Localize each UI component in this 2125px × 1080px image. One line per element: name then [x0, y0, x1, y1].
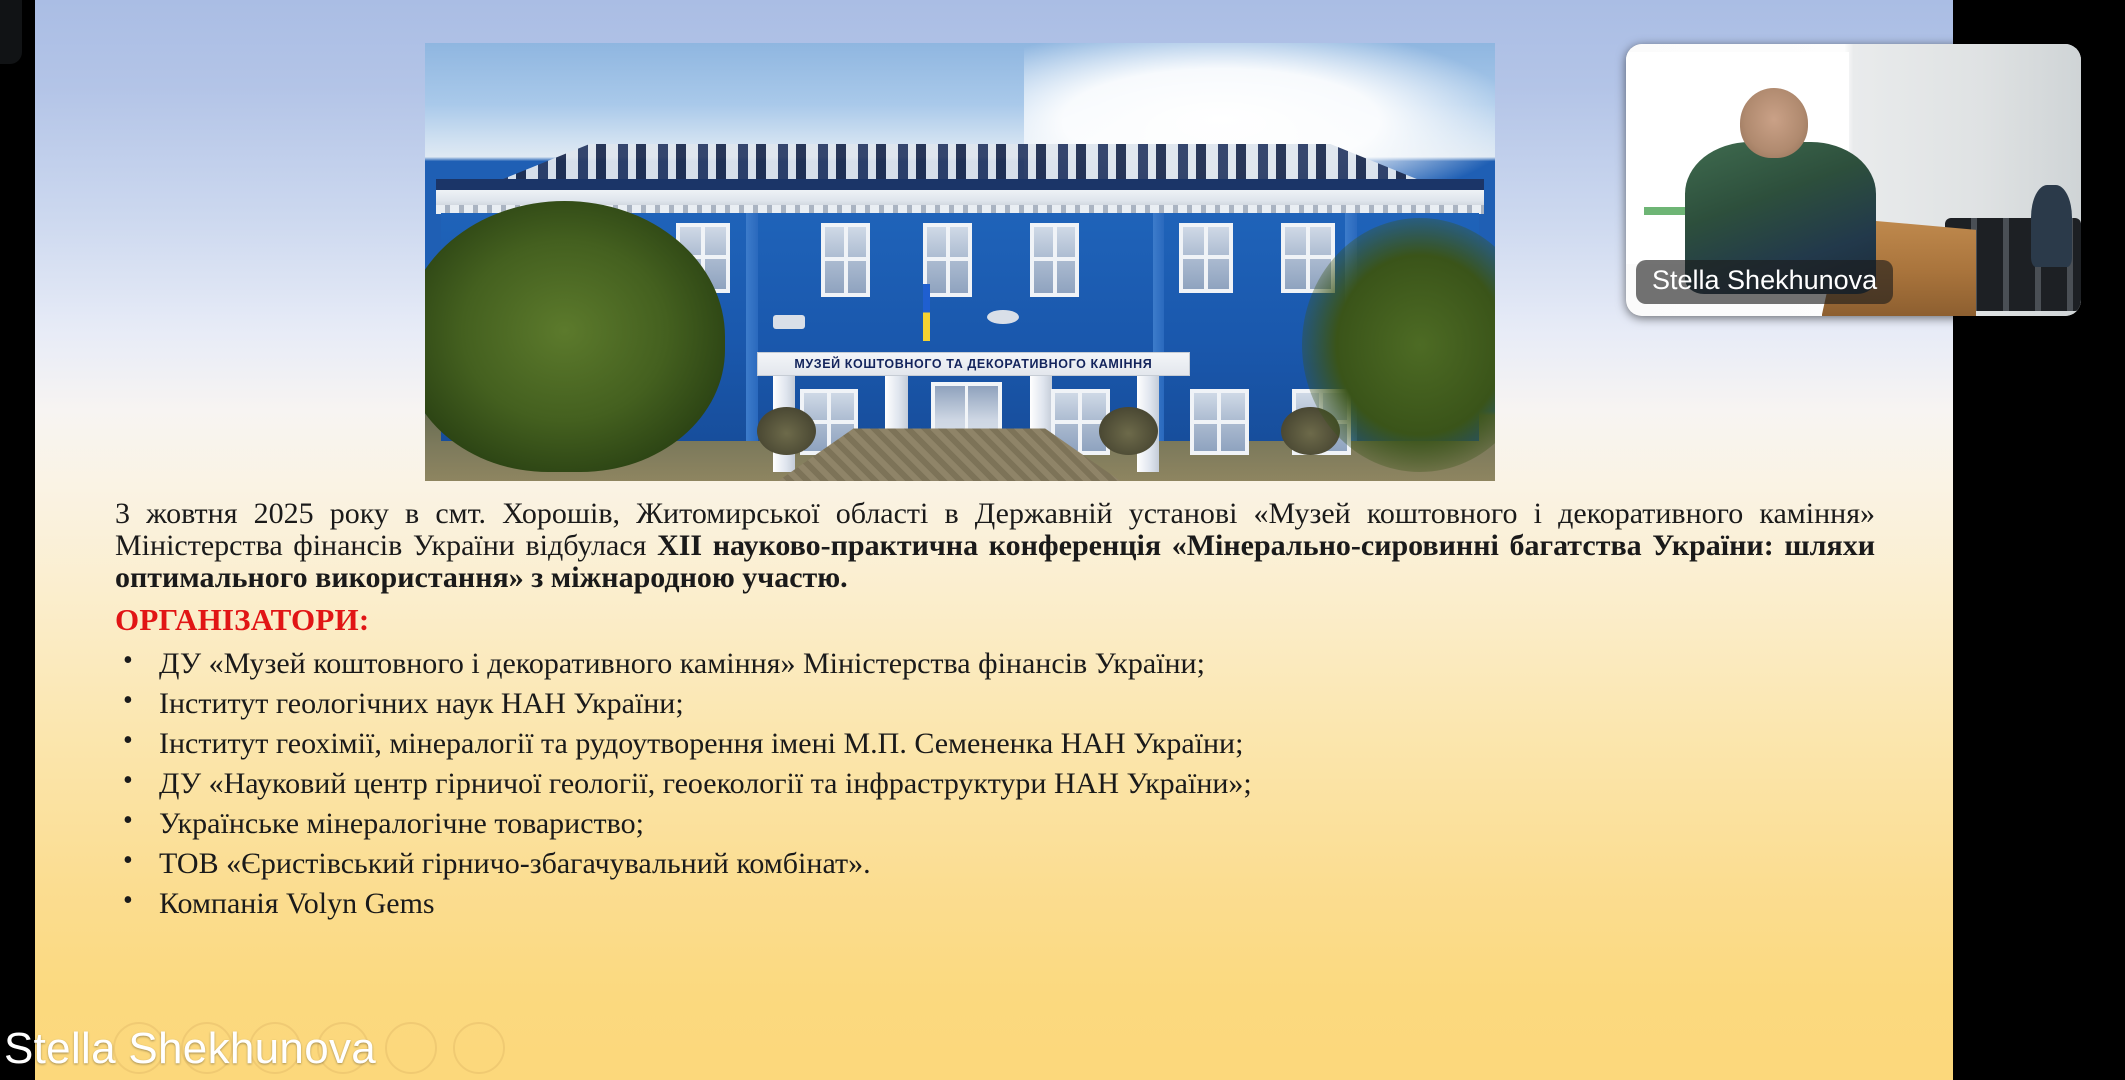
building-window — [923, 223, 972, 297]
ukrainian-flag — [923, 284, 930, 341]
window-corner-nub — [0, 0, 22, 64]
building-window — [1190, 389, 1249, 455]
building-window — [1179, 223, 1233, 293]
watermark-circle — [453, 1022, 505, 1074]
decorative-shrub — [757, 407, 816, 455]
intro-paragraph: 3 жовтня 2025 року в смт. Хорошів, Житом… — [115, 498, 1875, 594]
large-conifer-bush — [425, 201, 725, 473]
facade-pilaster — [746, 213, 758, 441]
slide-text-block: 3 жовтня 2025 року в смт. Хорошів, Житом… — [115, 498, 1875, 924]
list-item: Компанія Volyn Gems — [115, 884, 1875, 924]
list-item: Інститут геологічних наук НАН України; — [115, 684, 1875, 724]
active-speaker-overlay-name: Stella Shekhunova — [4, 1024, 376, 1074]
museum-sign: МУЗЕЙ КОШТОВНОГО ТА ДЕКОРАТИВНОГО КАМІНН… — [757, 352, 1190, 377]
screen-root: МУЗЕЙ КОШТОВНОГО ТА ДЕКОРАТИВНОГО КАМІНН… — [0, 0, 2125, 1080]
background-attendee — [2031, 185, 2072, 267]
speaker-video-tile[interactable]: Stella Shekhunova — [1626, 44, 2081, 316]
museum-building-photo: МУЗЕЙ КОШТОВНОГО ТА ДЕКОРАТИВНОГО КАМІНН… — [425, 43, 1495, 481]
building-window — [1030, 223, 1079, 297]
list-item: ТОВ «Єристівський гірничо-збагачувальний… — [115, 844, 1875, 884]
list-item: ДУ «Науковий центр гірничої геології, ге… — [115, 764, 1875, 804]
museum-sign-text: МУЗЕЙ КОШТОВНОГО ТА ДЕКОРАТИВНОГО КАМІНН… — [794, 357, 1152, 371]
list-item: Інститут геохімії, мінералогії та рудоут… — [115, 724, 1875, 764]
presenter-head — [1740, 88, 1808, 159]
air-conditioner-unit — [773, 315, 805, 329]
wall-emblem — [987, 310, 1019, 324]
organizers-list: ДУ «Музей коштовного і декоративного кам… — [115, 644, 1875, 923]
organizers-heading: ОРГАНІЗАТОРИ: — [115, 602, 1875, 638]
speaker-name-badge: Stella Shekhunova — [1636, 260, 1893, 304]
list-item: Українське мінералогічне товариство; — [115, 804, 1875, 844]
watermark-circle — [385, 1022, 437, 1074]
building-window — [821, 223, 870, 297]
roof-edge — [436, 179, 1485, 190]
list-item: ДУ «Музей коштовного і декоративного кам… — [115, 644, 1875, 684]
decorative-shrub — [1099, 407, 1158, 455]
